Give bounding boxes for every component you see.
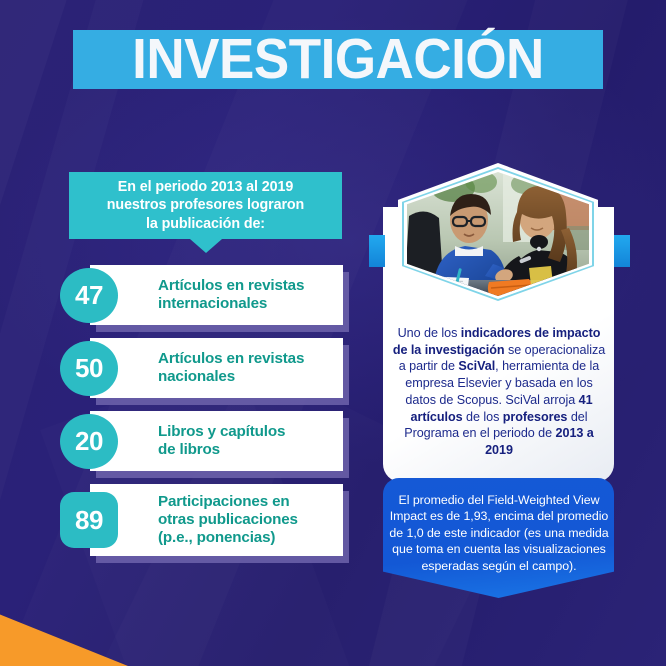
stat-value-badge: 20 [60, 414, 118, 469]
background-texture-streak [0, 0, 174, 666]
stat-bar: Participaciones en otras publicaciones (… [90, 484, 343, 556]
stat-label: Artículos en revistas nacionales [158, 350, 304, 386]
stat-bar: Artículos en revistas internacionales [90, 265, 343, 325]
stat-label: Artículos en revistas internacionales [158, 277, 304, 313]
panel-accent-tab-left [369, 235, 385, 267]
background-texture-streak [0, 0, 74, 666]
stat-value-badge: 89 [60, 492, 118, 548]
intro-callout: En el periodo 2013 al 2019 nuestros prof… [69, 172, 342, 239]
panel-accent-tab-right [614, 235, 630, 267]
page-title: INVESTIGACIÓN [132, 31, 544, 87]
emphasis-run: profesores [503, 410, 568, 424]
fwvi-paragraph: El promedio del Field-Weighted View Impa… [389, 492, 609, 574]
scival-paragraph: Uno de los indicadores de impacto de la … [389, 325, 609, 459]
stat-value-badge: 47 [60, 268, 118, 323]
text-run: de los [463, 410, 503, 424]
stat-label: Libros y capítulos de libros [158, 423, 285, 459]
stat-row: Artículos en revistas nacionales 50 [60, 338, 349, 400]
title-banner: INVESTIGACIÓN [73, 30, 603, 89]
stat-row: Artículos en revistas internacionales 47 [60, 265, 349, 327]
stat-row: Libros y capítulos de libros 20 [60, 411, 349, 473]
scival-paragraph-text: Uno de los indicadores de impacto de la … [393, 326, 605, 457]
emphasis-run: SciVal [458, 359, 495, 373]
intro-text: En el periodo 2013 al 2019 nuestros prof… [107, 178, 304, 233]
stat-value-badge: 50 [60, 341, 118, 396]
stat-bar: Artículos en revistas nacionales [90, 338, 343, 398]
stat-row: Participaciones en otras publicaciones (… [60, 484, 349, 558]
stat-bar: Libros y capítulos de libros [90, 411, 343, 471]
stat-label: Participaciones en otras publicaciones (… [158, 493, 298, 547]
text-run: Uno de los [398, 326, 461, 340]
intro-callout-notch [190, 239, 222, 253]
infographic-poster: INVESTIGACIÓN En el periodo 2013 al 2019… [0, 0, 666, 666]
orange-corner-accent [0, 600, 128, 666]
